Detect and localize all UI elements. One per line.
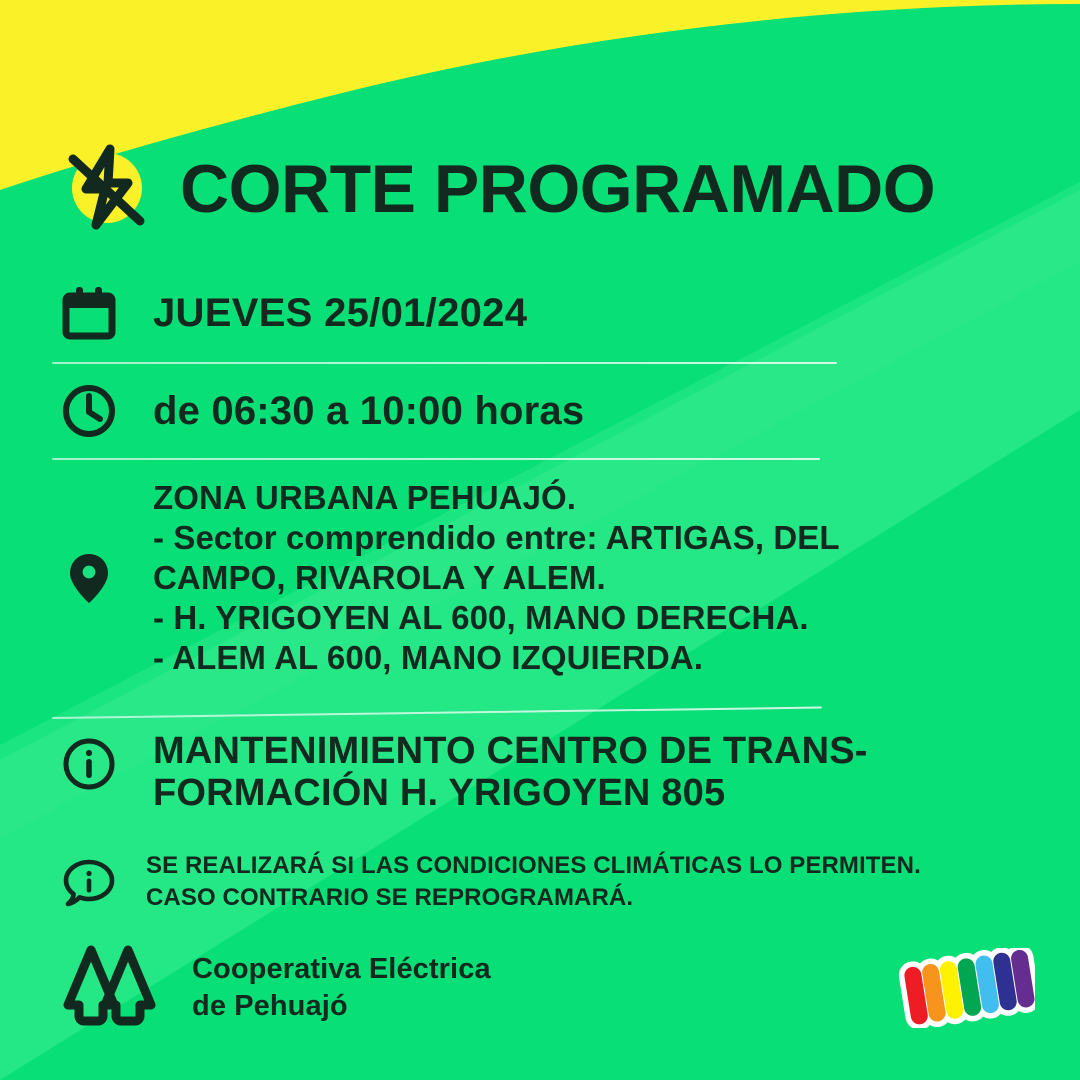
clock-icon xyxy=(58,383,120,439)
note-line: SE REALIZARÁ SI LAS CONDICIONES CLIMÁTIC… xyxy=(146,850,921,882)
zone-text-block: ZONA URBANA PEHUAJÓ. - Sector comprendid… xyxy=(153,478,840,678)
maintenance-line: MANTENIMIENTO CENTRO DE TRANS- xyxy=(153,730,868,772)
cooperativa-double-tree-logo-icon xyxy=(58,942,164,1033)
zone-line: CAMPO, RIVAROLA Y ALEM. xyxy=(153,558,840,598)
date-text: JUEVES 25/01/2024 xyxy=(153,291,527,336)
maintenance-text-block: MANTENIMIENTO CENTRO DE TRANS- FORMACIÓN… xyxy=(153,730,868,814)
note-text-block: SE REALIZARÁ SI LAS CONDICIONES CLIMÁTIC… xyxy=(146,850,921,914)
zone-line: - Sector comprendido entre: ARTIGAS, DEL xyxy=(153,518,840,558)
map-pin-icon xyxy=(58,550,120,606)
maintenance-row: MANTENIMIENTO CENTRO DE TRANS- FORMACIÓN… xyxy=(58,730,1038,814)
rainbow-bars-icon xyxy=(893,948,1035,1028)
footer-brand: Cooperativa Eléctrica de Pehuajó xyxy=(58,942,491,1033)
time-row: de 06:30 a 10:00 horas xyxy=(58,377,584,445)
brand-name-line: Cooperativa Eléctrica xyxy=(192,951,491,988)
info-circle-icon xyxy=(58,730,120,792)
divider-line xyxy=(52,362,837,364)
maintenance-line: FORMACIÓN H. YRIGOYEN 805 xyxy=(153,772,868,814)
zone-line: - H. YRIGOYEN AL 600, MANO DERECHA. xyxy=(153,598,840,638)
divider-line xyxy=(52,458,820,460)
zone-row: ZONA URBANA PEHUAJÓ. - Sector comprendid… xyxy=(58,478,1038,678)
brand-name-line: de Pehuajó xyxy=(192,988,491,1025)
page-title: CORTE PROGRAMADO xyxy=(180,155,935,223)
brand-name-block: Cooperativa Eléctrica de Pehuajó xyxy=(192,951,491,1025)
zone-line: - ALEM AL 600, MANO IZQUIERDA. xyxy=(153,638,840,678)
date-row: JUEVES 25/01/2024 xyxy=(58,278,527,348)
info-chat-bubble-icon xyxy=(58,854,120,910)
zone-line: ZONA URBANA PEHUAJÓ. xyxy=(153,478,840,518)
note-row: SE REALIZARÁ SI LAS CONDICIONES CLIMÁTIC… xyxy=(58,850,1038,914)
calendar-icon xyxy=(58,285,120,341)
bolt-slash-icon xyxy=(58,139,154,235)
divider-line xyxy=(52,707,822,719)
note-line: CASO CONTRARIO SE REPROGRAMARÁ. xyxy=(146,882,921,914)
time-text: de 06:30 a 10:00 horas xyxy=(153,389,584,434)
poster-header: CORTE PROGRAMADO xyxy=(58,128,935,246)
poster-canvas: CORTE PROGRAMADO JUEVES 25/01/2024 de 06… xyxy=(0,0,1080,1080)
